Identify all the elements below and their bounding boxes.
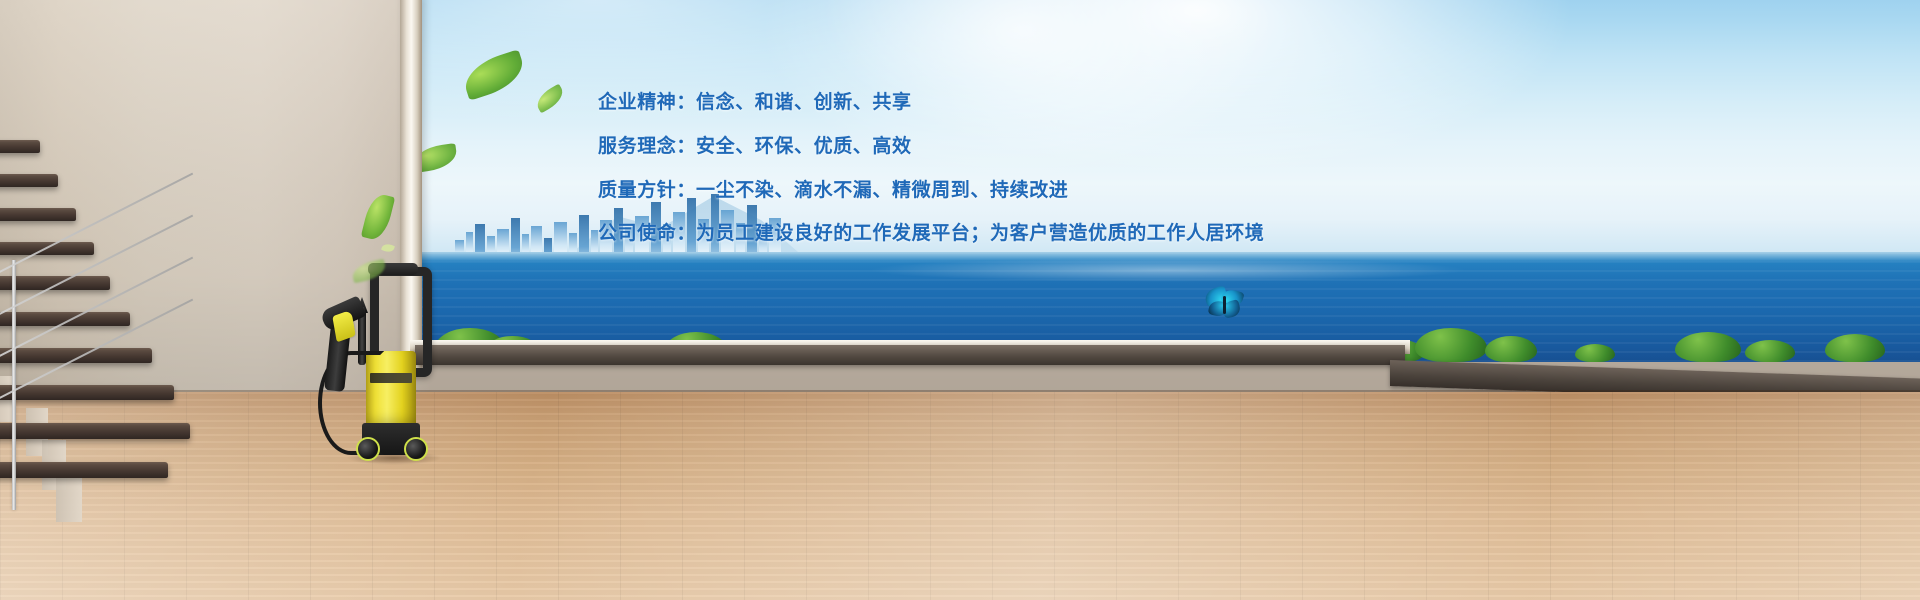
sea-glare (867, 258, 1469, 282)
slogan-line-2: 服务理念：安全、环保、优质、高效 (598, 136, 1358, 159)
butterfly-body (1223, 296, 1226, 314)
washer-wheel (404, 437, 428, 461)
slogan-line-4: 公司使命：为员工建设良好的工作发展平台；为客户营造优质的工作人居环境 (598, 223, 1358, 246)
butterfly-icon (1205, 288, 1245, 322)
railing-post (12, 260, 16, 510)
pressure-washer (312, 255, 432, 460)
staircase (0, 140, 220, 500)
slogan-block: 企业精神：信念、和谐、创新、共享 服务理念：安全、环保、优质、高效 质量方针：一… (598, 92, 1358, 246)
washer-wheel (356, 437, 380, 461)
baseboard (415, 345, 1405, 365)
slogan-line-1: 企业精神：信念、和谐、创新、共享 (598, 92, 1358, 115)
slogan-line-3: 质量方针：一尘不染、滴水不漏、精微周到、持续改进 (598, 180, 1358, 203)
wood-floor (0, 392, 1920, 600)
banner-stage: 企业精神：信念、和谐、创新、共享 服务理念：安全、环保、优质、高效 质量方针：一… (0, 0, 1920, 600)
